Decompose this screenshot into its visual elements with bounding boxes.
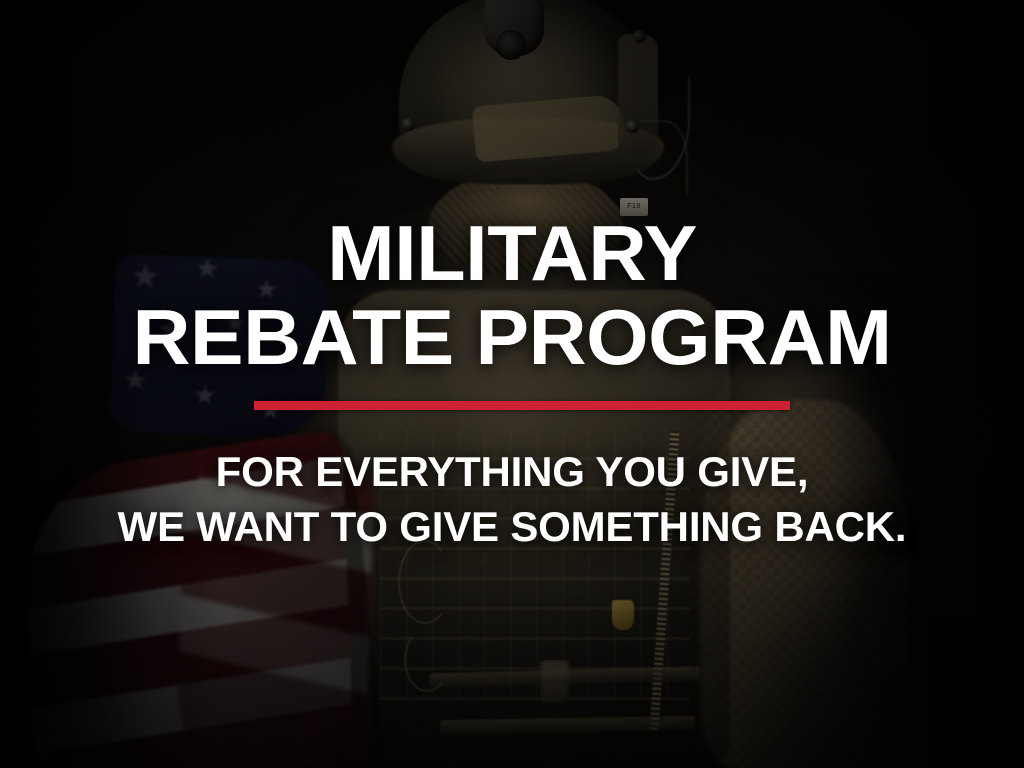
poster-content: MILITARY REBATE PROGRAM FOR EVERYTHING Y…: [0, 0, 1024, 768]
subheadline-line-1: FOR EVERYTHING YOU GIVE,: [0, 448, 1024, 496]
subheadline-line-2: WE WANT TO GIVE SOMETHING BACK.: [0, 503, 1024, 551]
headline-line-1: MILITARY: [0, 216, 1024, 291]
military-rebate-poster: F18: [0, 0, 1024, 768]
headline-line-2: REBATE PROGRAM: [0, 300, 1024, 375]
red-divider-rule: [254, 401, 790, 410]
